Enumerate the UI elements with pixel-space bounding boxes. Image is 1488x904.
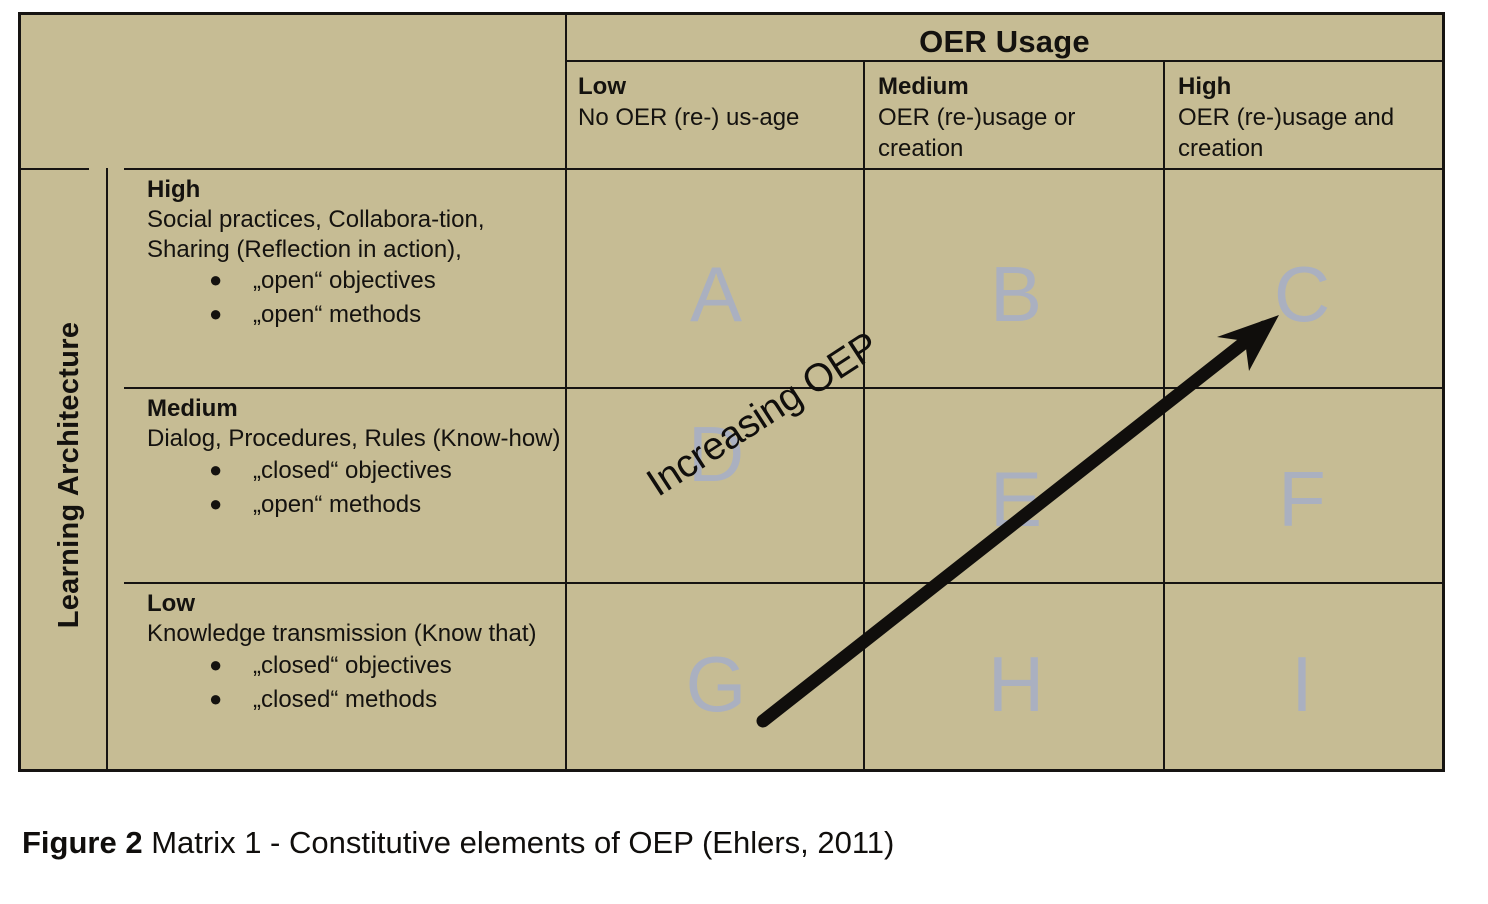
column-header-low: Low No OER (re-) us-age: [568, 67, 862, 167]
list-item-label: „closed“ objectives: [253, 652, 452, 679]
matrix-cell-C: C: [1154, 255, 1450, 333]
oep-matrix-table: OER Usage Low No OER (re-) us-age Medium…: [18, 12, 1445, 772]
figure-number: Figure 2: [22, 825, 143, 860]
bullet-icon: ●: [209, 488, 222, 519]
bullet-icon: ●: [209, 454, 222, 485]
bullet-icon: ●: [209, 649, 222, 680]
figure-matrix-oep: OER Usage Low No OER (re-) us-age Medium…: [0, 0, 1488, 904]
row-header-medium: Medium Dialog, Procedures, Rules (Know-h…: [131, 392, 568, 582]
list-item-label: „open“ methods: [253, 301, 421, 328]
list-item: ● „closed“ objectives: [209, 649, 562, 683]
row-header-medium-level: Medium: [147, 394, 562, 424]
row-header-high-bullets: ● „open“ objectives ● „open“ methods: [147, 264, 562, 332]
matrix-cell-F: F: [1154, 460, 1450, 538]
column-header-high-description: OER (re-)usage and creation: [1178, 102, 1440, 164]
bullet-icon: ●: [209, 264, 222, 295]
matrix-cell-I: I: [1154, 645, 1450, 723]
matrix-cell-G: G: [568, 645, 864, 723]
matrix-cell-A: A: [568, 255, 864, 333]
column-header-high: High OER (re-)usage and creation: [1168, 67, 1440, 167]
row-header-low-level: Low: [147, 589, 562, 619]
row-header-low-bullets: ● „closed“ objectives ● „closed“ methods: [147, 649, 562, 717]
list-item: ● „open“ methods: [209, 488, 562, 522]
column-header-low-description: No OER (re-) us-age: [578, 102, 862, 133]
row-header-medium-description: Dialog, Procedures, Rules (Know-how): [147, 424, 562, 454]
list-item: ● „open“ methods: [209, 298, 562, 332]
list-item: ● „open“ objectives: [209, 264, 562, 298]
matrix-cell-B: B: [868, 255, 1164, 333]
row-header-high: High Social practices, Collabora-tion, S…: [131, 173, 568, 387]
column-header-medium: Medium OER (re-)usage or creation: [868, 67, 1162, 167]
grid-line-vertical-axis: [106, 168, 108, 772]
column-header-medium-description: OER (re-)usage or creation: [878, 102, 1162, 164]
grid-line-horizontal-subheader-right: [124, 168, 1445, 170]
list-item-label: „open“ methods: [253, 491, 421, 518]
list-item: ● „closed“ methods: [209, 683, 562, 717]
column-axis-title: OER Usage: [568, 22, 1441, 62]
list-item: ● „closed“ objectives: [209, 454, 562, 488]
matrix-cell-H: H: [868, 645, 1164, 723]
row-header-high-description: Social practices, Collabora-tion, Sharin…: [147, 205, 562, 265]
bullet-icon: ●: [209, 683, 222, 714]
column-header-medium-level: Medium: [878, 71, 1162, 102]
grid-line-horizontal-subheader-left: [21, 168, 89, 170]
matrix-cell-E: E: [868, 460, 1164, 538]
column-header-low-level: Low: [578, 71, 862, 102]
column-header-high-level: High: [1178, 71, 1440, 102]
list-item-label: „open“ objectives: [253, 267, 436, 294]
list-item-label: „closed“ methods: [253, 686, 437, 713]
figure-caption-text: Matrix 1 - Constitutive elements of OEP …: [143, 825, 895, 860]
row-axis-title: Learning Architecture: [49, 175, 89, 775]
row-header-low-description: Knowledge transmission (Know that): [147, 619, 562, 649]
figure-caption: Figure 2 Matrix 1 - Constitutive element…: [22, 825, 894, 861]
list-item-label: „closed“ objectives: [253, 457, 452, 484]
bullet-icon: ●: [209, 298, 222, 329]
row-header-high-level: High: [147, 175, 562, 205]
row-header-low: Low Knowledge transmission (Know that) ●…: [131, 587, 568, 772]
row-header-medium-bullets: ● „closed“ objectives ● „open“ methods: [147, 454, 562, 522]
grid-line-horizontal-row2: [124, 582, 1445, 584]
